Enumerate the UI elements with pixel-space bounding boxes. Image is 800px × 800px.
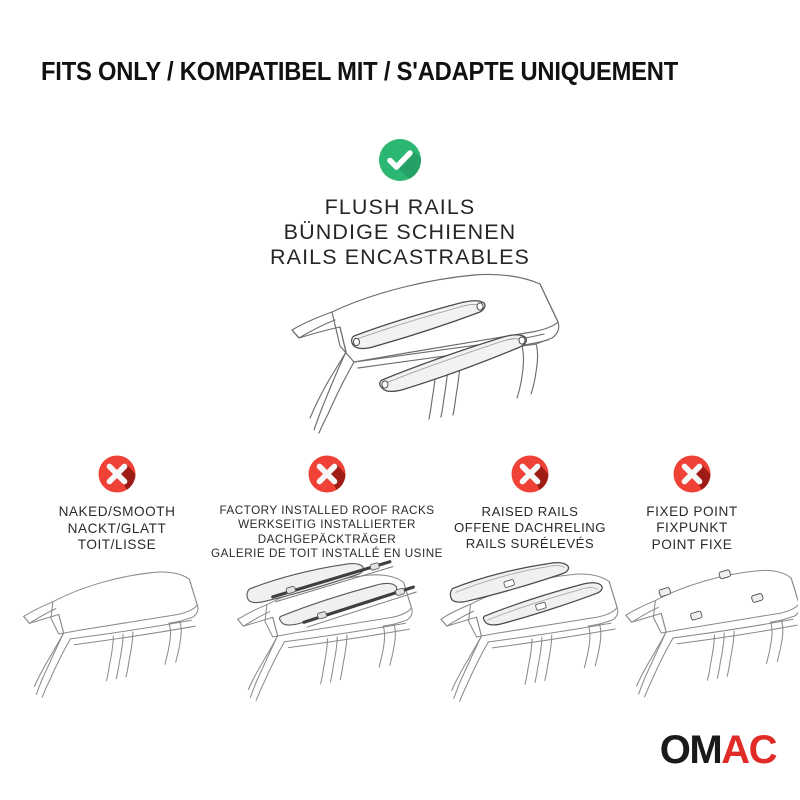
- red-x-circle-icon: [508, 452, 552, 496]
- car-roof-with-flush-rails-illustration: [236, 268, 576, 438]
- option-fixed-point-labels: FIXED POINT FIXPUNKT POINT FIXE: [607, 504, 777, 553]
- label-en: FIXED POINT: [607, 504, 777, 520]
- option-factory-racks-labels: FACTORY INSTALLED ROOF RACKS WERKSEITIG …: [207, 504, 447, 562]
- car-roof-with-raised-rails-illustration: [427, 556, 625, 711]
- flush-label-en: FLUSH RAILS: [0, 195, 800, 220]
- car-roof-with-fixed-points-illustration: [616, 556, 798, 711]
- car-roof-naked-smooth-illustration: [10, 556, 205, 711]
- logo-text-red: AC: [721, 728, 776, 772]
- label-fr: RAILS SURÉLEVÉS: [430, 536, 630, 552]
- label-de2: DACHGEPÄCKTRÄGER: [207, 533, 447, 547]
- flush-rails-labels: FLUSH RAILS BÜNDIGE SCHIENEN RAILS ENCAS…: [0, 195, 800, 270]
- label-en: FACTORY INSTALLED ROOF RACKS: [207, 504, 447, 518]
- label-fr: TOIT/LISSE: [17, 537, 217, 554]
- car-roof-with-factory-crossbars-illustration: [222, 556, 427, 711]
- red-x-circle-icon: [670, 452, 714, 496]
- option-raised-rails-labels: RAISED RAILS OFFENE DACHRELING RAILS SUR…: [430, 504, 630, 553]
- option-naked-smooth: NAKED/SMOOTH NACKT/GLATT TOIT/LISSE: [17, 452, 217, 554]
- flush-label-fr: RAILS ENCASTRABLES: [0, 245, 800, 270]
- option-raised-rails: RAISED RAILS OFFENE DACHRELING RAILS SUR…: [430, 452, 630, 553]
- label-de: NACKT/GLATT: [17, 521, 217, 538]
- label-de: FIXPUNKT: [607, 520, 777, 536]
- red-x-circle-icon: [95, 452, 139, 496]
- flush-label-de: BÜNDIGE SCHIENEN: [0, 220, 800, 245]
- green-check-circle-icon: [375, 135, 425, 185]
- omac-logo: OMAC: [660, 730, 776, 770]
- label-en: RAISED RAILS: [430, 504, 630, 520]
- label-en: NAKED/SMOOTH: [17, 504, 217, 521]
- option-factory-installed-roof-racks: FACTORY INSTALLED ROOF RACKS WERKSEITIG …: [207, 452, 447, 562]
- option-fixed-point: FIXED POINT FIXPUNKT POINT FIXE: [607, 452, 777, 553]
- page-title: FITS ONLY / KOMPATIBEL MIT / S'ADAPTE UN…: [41, 58, 678, 87]
- label-fr: POINT FIXE: [607, 537, 777, 553]
- label-de1: WERKSEITIG INSTALLIERTER: [207, 518, 447, 532]
- red-x-circle-icon: [305, 452, 349, 496]
- option-naked-smooth-labels: NAKED/SMOOTH NACKT/GLATT TOIT/LISSE: [17, 504, 217, 554]
- label-de: OFFENE DACHRELING: [430, 520, 630, 536]
- logo-text-dark: OM: [660, 728, 721, 772]
- flush-rails-section: FLUSH RAILS BÜNDIGE SCHIENEN RAILS ENCAS…: [0, 135, 800, 270]
